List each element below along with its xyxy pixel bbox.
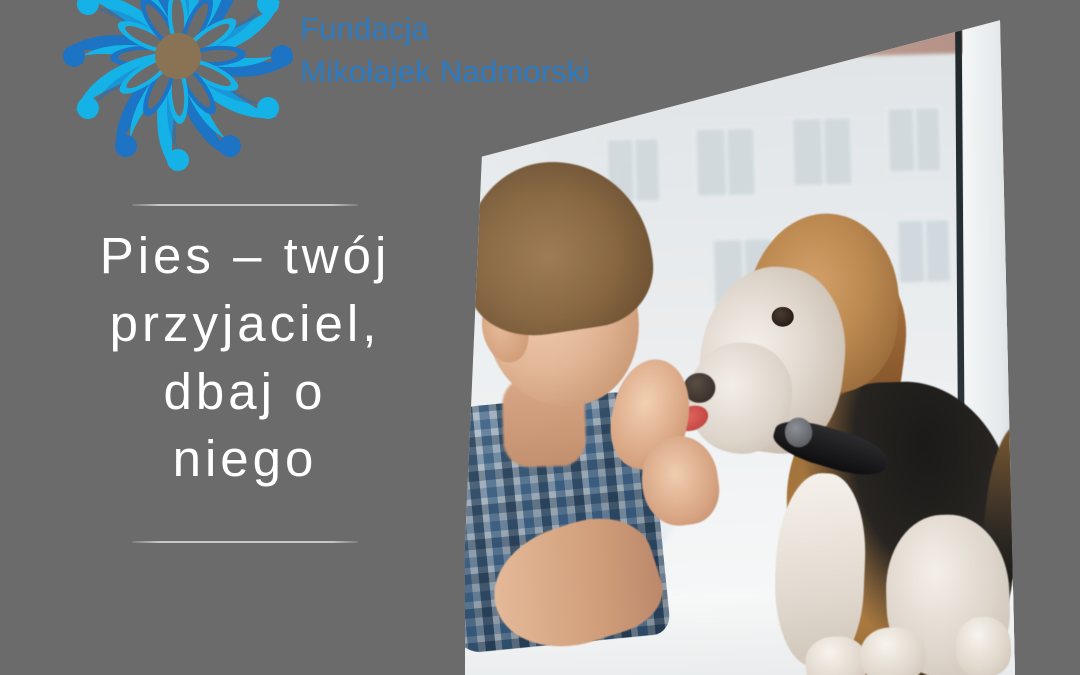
poster-canvas: Fundacja Mikołajek Nadmorski Pies – twój…: [0, 0, 1080, 675]
page-title-line-2: przyjaciel,: [10, 290, 480, 358]
building-window: [896, 217, 953, 285]
dog-eye: [771, 307, 794, 327]
page-title-line-1: Pies – twój: [10, 222, 480, 290]
foundation-name-line1: Fundacja: [300, 8, 700, 51]
dog-paw: [859, 626, 926, 675]
divider-below-headline: [132, 541, 358, 543]
dog-paw: [955, 616, 1012, 675]
foundation-name: Fundacja Mikołajek Nadmorski: [300, 8, 700, 94]
foundation-name-line2: Mikołajek Nadmorski: [300, 51, 700, 94]
divider-above-headline: [132, 204, 358, 206]
snowflake-people-mandala-icon: [58, 0, 298, 171]
page-title-line-4: niego: [10, 425, 480, 493]
page-title-line-3: dbaj o: [10, 358, 480, 426]
building-window: [886, 106, 943, 174]
foundation-logo: [58, 0, 298, 171]
building-window: [790, 116, 854, 188]
page-title: Pies – twój przyjaciel, dbaj o niego: [10, 222, 480, 493]
building-window: [694, 126, 758, 198]
